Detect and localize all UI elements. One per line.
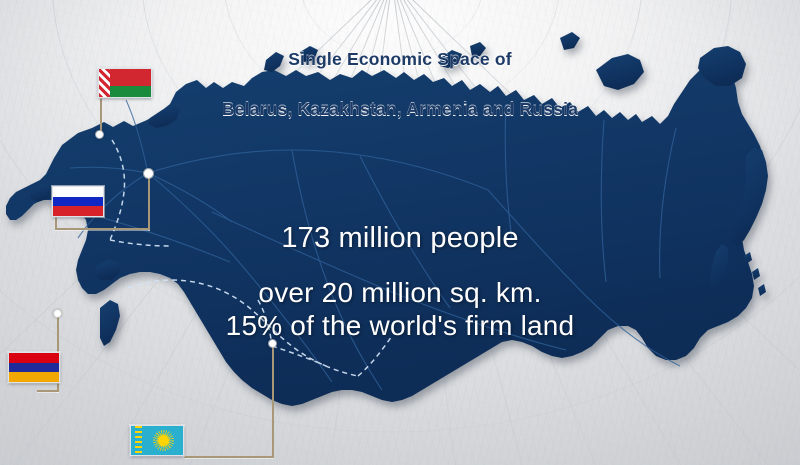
connector-russia-vertical — [148, 176, 150, 230]
flag-belarus-icon[interactable] — [98, 68, 152, 98]
marker-moscow[interactable] — [144, 169, 153, 178]
stat-land-share: 15% of the world's firm land — [0, 310, 800, 342]
stat-area: over 20 million sq. km. — [0, 277, 800, 309]
title-line-2: Belarus, Kazakhstan, Armenia and Russia — [0, 97, 800, 122]
marker-belarus[interactable] — [96, 131, 103, 138]
stat-population: 173 million people — [0, 222, 800, 255]
marker-armenia[interactable] — [54, 310, 61, 317]
flag-armenia-icon[interactable] — [8, 352, 60, 383]
infographic-canvas: Single Economic Space of Belarus, Kazakh… — [0, 0, 800, 465]
flag-russia-icon[interactable] — [52, 186, 104, 217]
connector-kazakhstan-vertical — [272, 346, 274, 457]
marker-kazakhstan[interactable] — [269, 340, 276, 347]
connector-armenia-horizontal — [37, 390, 59, 392]
flag-kazakhstan-icon[interactable] — [130, 425, 184, 456]
connector-kazakhstan-horizontal — [184, 456, 274, 458]
connector-russia-horizontal — [55, 228, 150, 230]
